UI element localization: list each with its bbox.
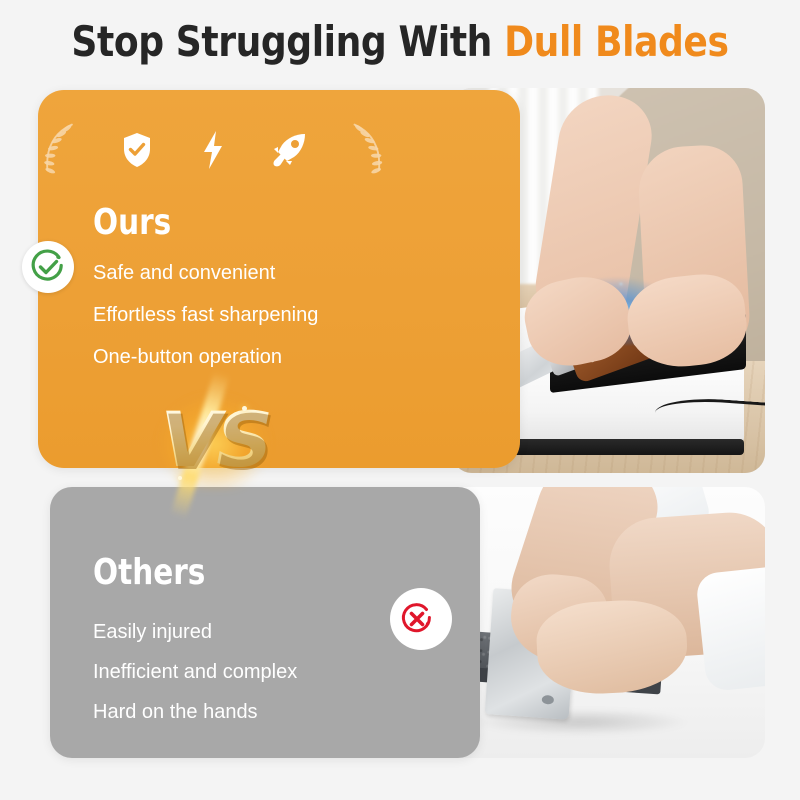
ours-heading: Ours [93,203,171,243]
check-badge [22,241,74,293]
ours-bullet-item: Effortless fast sharpening [93,294,423,336]
infographic-canvas: Stop Struggling With Dull Blades [0,0,800,800]
ours-feature-icon-row [38,112,388,188]
check-circle-icon [28,247,68,287]
x-circle-icon [398,600,436,638]
sleeve-cuff-right [695,564,765,692]
others-bullet-item: Hard on the hands [93,692,423,732]
page-title: Stop Struggling With Dull Blades [56,16,744,68]
x-badge [394,596,440,642]
headline-accent-text: Dull Blades [504,17,728,66]
versus-emblem: VS [148,388,280,498]
laurel-branch-right-icon [347,119,388,181]
lightning-bolt-icon [195,129,231,171]
others-heading: Others [93,553,205,593]
others-bullet-item: Inefficient and complex [93,652,423,692]
versus-spark [242,406,247,411]
ours-bullet-item: One-button operation [93,336,423,378]
shield-check-icon [119,129,155,171]
ours-bullet-list: Safe and convenient Effortless fast shar… [93,252,423,378]
versus-label: VS [145,394,282,486]
headline-primary-text: Stop Struggling With [71,17,492,66]
laurel-branch-left-icon [38,119,79,181]
others-bullet-item: Easily injured [93,612,423,652]
others-bullet-list: Easily injured Inefficient and complex H… [93,612,423,732]
versus-spark [178,476,182,480]
ours-bullet-item: Safe and convenient [93,252,423,294]
rocket-icon [271,129,307,171]
